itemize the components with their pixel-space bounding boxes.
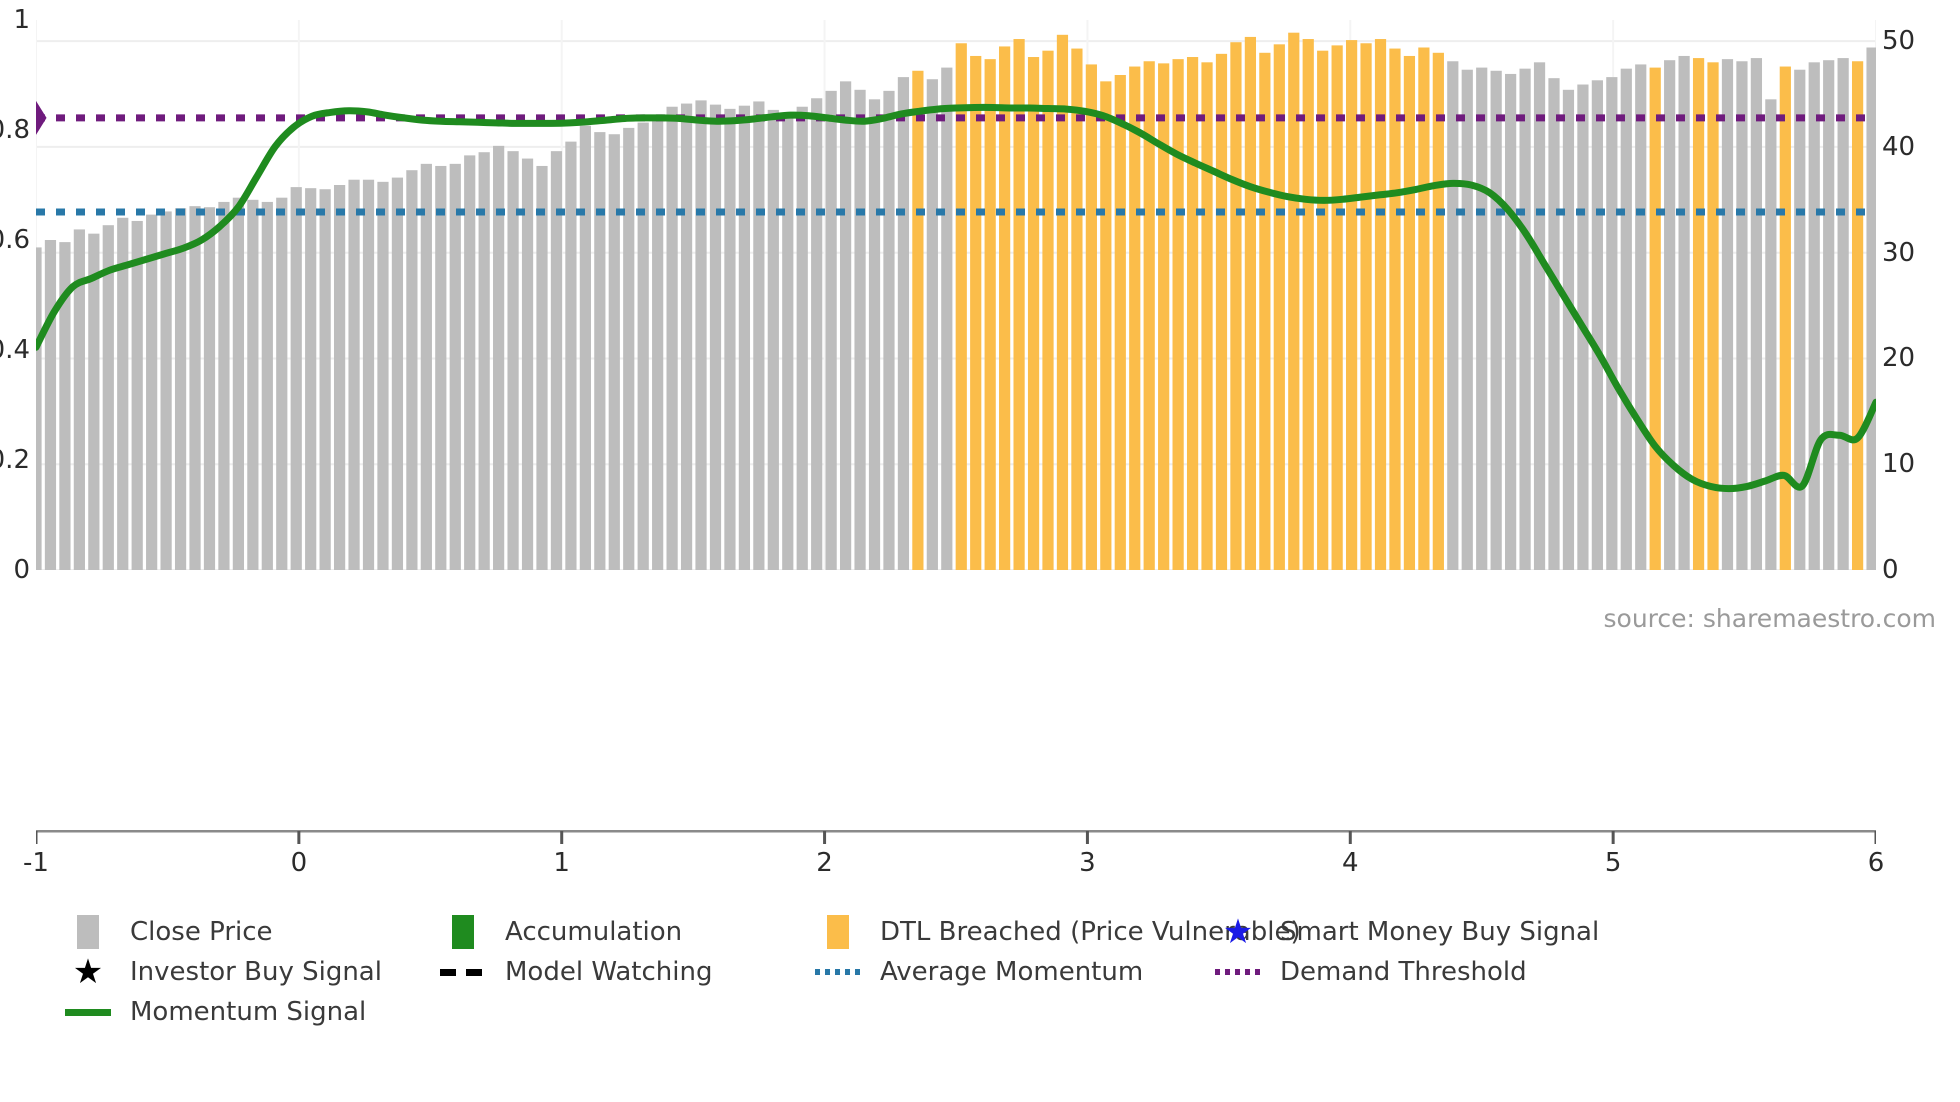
legend-item-label: Accumulation <box>505 917 682 947</box>
legend-dashed-swatch <box>435 969 491 976</box>
bar-close-price <box>1592 80 1603 570</box>
bar-close-price <box>334 185 345 570</box>
y-axis-left-labels: 00.20.40.60.81 <box>0 20 30 570</box>
x-axis-labels: -10123456 <box>36 848 1876 888</box>
y-axis-left-tick: 1 <box>13 5 30 35</box>
bar-dtl-breached <box>1115 75 1126 570</box>
bar-close-price <box>450 164 461 570</box>
legend-square-swatch <box>60 915 116 949</box>
y-axis-right-tick: 40 <box>1882 132 1915 162</box>
legend-investor-buy[interactable]: ★Investor Buy Signal <box>60 952 435 992</box>
bar-close-price <box>1491 71 1502 570</box>
bar-dtl-breached <box>1129 67 1140 570</box>
legend-dtl-breached[interactable]: DTL Breached (Price Vulnerable) <box>810 912 1210 952</box>
x-axis-tick: 5 <box>1605 848 1622 878</box>
bar-close-price <box>233 198 244 570</box>
bar-dtl-breached <box>1274 44 1285 570</box>
legend-solid-line-icon <box>65 1009 111 1016</box>
bar-close-price <box>421 164 432 570</box>
bar-close-price <box>175 208 186 570</box>
x-axis-tick: 2 <box>816 848 833 878</box>
y-axis-right-tick: 10 <box>1882 449 1915 479</box>
bar-close-price <box>927 79 938 570</box>
bar-close-price <box>392 178 403 570</box>
bar-close-price <box>291 187 302 570</box>
bar-close-price <box>1664 60 1675 570</box>
bar-close-price <box>132 221 143 570</box>
bar-dtl-breached <box>1042 51 1053 570</box>
bar-close-price <box>854 90 865 570</box>
x-axis-tick: 1 <box>553 848 570 878</box>
y-axis-left-tick: 0.4 <box>0 335 30 365</box>
bar-close-price <box>146 215 157 570</box>
y-axis-left-tick: 0.2 <box>0 445 30 475</box>
bar-close-price <box>739 106 750 570</box>
bar-dtl-breached <box>1433 53 1444 570</box>
bar-dtl-breached <box>1332 45 1343 570</box>
bar-close-price <box>522 159 533 570</box>
legend-item-label: Smart Money Buy Signal <box>1280 917 1599 947</box>
bar-close-price <box>623 128 634 570</box>
x-axis-tick: -1 <box>23 848 49 878</box>
bar-dtl-breached <box>1028 57 1039 570</box>
bar-dtl-breached <box>1418 48 1429 571</box>
bar-close-price <box>1462 70 1473 570</box>
y-axis-left-tick: 0.6 <box>0 225 30 255</box>
bar-dtl-breached <box>1158 63 1169 570</box>
legend-model-watching[interactable]: Model Watching <box>435 952 810 992</box>
bar-close-price <box>609 134 620 570</box>
chart-canvas <box>36 20 1876 570</box>
bar-dtl-breached <box>1346 40 1357 570</box>
bar-close-price <box>305 188 316 570</box>
bar-close-price <box>36 247 42 570</box>
legend-accumulation[interactable]: Accumulation <box>435 912 810 952</box>
legend-line-swatch <box>60 1009 116 1016</box>
bar-dtl-breached <box>1317 51 1328 570</box>
bar-close-price <box>1765 99 1776 570</box>
legend-smart-money-buy[interactable]: ★Smart Money Buy Signal <box>1210 912 1599 952</box>
legend-average-momentum[interactable]: Average Momentum <box>810 952 1210 992</box>
bar-dtl-breached <box>1201 62 1212 570</box>
y-axis-left-tick: 0.8 <box>0 115 30 145</box>
bar-close-price <box>103 225 114 570</box>
chart-legend: Close PriceAccumulationDTL Breached (Pri… <box>0 912 1960 1032</box>
bar-close-price <box>1534 62 1545 570</box>
bar-close-price <box>464 155 475 570</box>
legend-dotted-line-icon <box>815 969 861 975</box>
bar-dtl-breached <box>1216 54 1227 570</box>
legend-close-price[interactable]: Close Price <box>60 912 435 952</box>
bar-dtl-breached <box>1187 57 1198 570</box>
x-axis-spine <box>36 830 1876 848</box>
y-axis-right-tick: 30 <box>1882 238 1915 268</box>
y-axis-right-tick: 20 <box>1882 343 1915 373</box>
bar-close-price <box>782 115 793 570</box>
legend-dotted-line-icon <box>1215 969 1261 975</box>
legend-dotted-swatch <box>1210 969 1266 975</box>
bar-dtl-breached <box>1173 59 1184 570</box>
bar-close-price <box>1736 61 1747 570</box>
bar-close-price <box>88 234 99 570</box>
legend-square-icon <box>827 915 849 949</box>
bar-close-price <box>797 107 808 570</box>
legend-row: Close PriceAccumulationDTL Breached (Pri… <box>0 912 1960 952</box>
bar-dtl-breached <box>1650 68 1661 570</box>
bar-close-price <box>1505 74 1516 570</box>
bar-close-price <box>1838 58 1849 570</box>
bar-close-price <box>276 198 287 570</box>
legend-item-label: Demand Threshold <box>1280 957 1527 987</box>
bar-dtl-breached <box>985 59 996 570</box>
bar-dtl-breached <box>1360 43 1371 570</box>
bar-close-price <box>594 132 605 570</box>
bar-close-price <box>320 189 331 570</box>
legend-demand-threshold[interactable]: Demand Threshold <box>1210 952 1527 992</box>
x-axis-tick: 4 <box>1342 848 1359 878</box>
bar-dtl-breached <box>1288 33 1299 570</box>
bar-close-price <box>1548 78 1559 570</box>
bar-dtl-breached <box>1852 61 1863 570</box>
y-axis-right-tick: 50 <box>1882 26 1915 56</box>
chart-root: 00.20.40.60.81 01020304050 -10123456 sou… <box>0 0 1960 1102</box>
bar-close-price <box>1679 56 1690 570</box>
bar-close-price <box>363 180 374 570</box>
legend-star-swatch: ★ <box>1210 915 1266 949</box>
bar-close-price <box>869 99 880 570</box>
bar-close-price <box>1794 70 1805 570</box>
bar-close-price <box>667 107 678 570</box>
signal-markers <box>36 101 47 135</box>
x-axis-tick: 6 <box>1868 848 1885 878</box>
bar-close-price <box>218 202 229 570</box>
source-note: source: sharemaestro.com <box>1604 604 1937 633</box>
bar-close-price <box>377 182 388 570</box>
bar-close-price <box>811 98 822 570</box>
bar-close-price <box>724 109 735 570</box>
bar-dtl-breached <box>1245 37 1256 570</box>
bar-close-price <box>1866 48 1876 571</box>
legend-star-swatch: ★ <box>60 955 116 989</box>
bar-close-price <box>826 91 837 570</box>
bar-close-price <box>348 180 359 570</box>
bar-close-price <box>695 100 706 570</box>
legend-item-label: Close Price <box>130 917 273 947</box>
bar-dtl-breached <box>1086 64 1097 570</box>
legend-item-label: Momentum Signal <box>130 997 366 1027</box>
bar-close-price <box>580 126 591 570</box>
legend-item-label: Average Momentum <box>880 957 1143 987</box>
bar-close-price <box>565 142 576 570</box>
bar-close-price <box>247 200 258 570</box>
bar-close-price <box>1621 69 1632 570</box>
star-icon: ★ <box>1223 915 1253 949</box>
bar-dtl-breached <box>1693 58 1704 570</box>
plot-area <box>36 20 1876 570</box>
legend-square-icon <box>77 915 99 949</box>
legend-item-label: Model Watching <box>505 957 712 987</box>
bar-close-price <box>1606 77 1617 570</box>
bar-dtl-breached <box>1780 67 1791 570</box>
bar-dtl-breached <box>956 43 967 570</box>
bar-close-price <box>898 77 909 570</box>
bar-close-price <box>1447 61 1458 570</box>
bar-close-price <box>681 104 692 570</box>
bar-close-price <box>1563 90 1574 570</box>
legend-square-swatch <box>435 915 491 949</box>
bar-close-price <box>753 101 764 570</box>
bar-close-price <box>883 91 894 570</box>
bar-close-price <box>406 170 417 570</box>
legend-item-label: Investor Buy Signal <box>130 957 382 987</box>
bar-close-price <box>638 123 649 570</box>
bar-close-price <box>941 68 952 570</box>
x-axis-tick: 3 <box>1079 848 1096 878</box>
bar-close-price <box>1722 59 1733 570</box>
demand-threshold-start-marker <box>36 101 47 135</box>
y-axis-right-tick: 0 <box>1882 555 1899 585</box>
bar-close-price <box>1519 69 1530 570</box>
bar-close-price <box>536 166 547 570</box>
x-axis-tick: 0 <box>291 848 308 878</box>
legend-square-icon <box>452 915 474 949</box>
bar-dtl-breached <box>912 71 923 570</box>
y-axis-left-tick: 0 <box>13 555 30 585</box>
bar-close-price <box>161 211 172 570</box>
bar-dtl-breached <box>970 56 981 570</box>
bar-dtl-breached <box>1404 56 1415 570</box>
bar-close-price <box>204 207 215 570</box>
bar-dtl-breached <box>1100 81 1111 570</box>
legend-row: ★Investor Buy SignalModel WatchingAverag… <box>0 952 1960 992</box>
bar-close-price <box>45 240 56 570</box>
bar-close-price <box>435 166 446 570</box>
bar-close-price <box>1823 60 1834 570</box>
bar-close-price <box>840 81 851 570</box>
bar-close-price <box>710 105 721 570</box>
bar-dtl-breached <box>999 46 1010 570</box>
y-axis-right-labels: 01020304050 <box>1882 20 1952 570</box>
bar-close-price <box>768 110 779 570</box>
bar-close-price <box>652 116 663 570</box>
bar-close-price <box>262 202 273 570</box>
legend-row: Momentum Signal <box>0 992 1960 1032</box>
bar-close-price <box>1809 62 1820 570</box>
star-icon: ★ <box>73 955 103 989</box>
bar-dtl-breached <box>1259 53 1270 570</box>
legend-momentum-signal[interactable]: Momentum Signal <box>60 992 366 1032</box>
bar-close-price <box>1476 68 1487 570</box>
legend-square-swatch <box>810 915 866 949</box>
bar-dtl-breached <box>1707 62 1718 570</box>
bar-close-price <box>1635 64 1646 570</box>
bar-close-price <box>189 206 200 570</box>
bar-dtl-breached <box>1389 49 1400 570</box>
bar-dtl-breached <box>1071 49 1082 570</box>
bar-close-price <box>1751 58 1762 570</box>
legend-dotted-swatch <box>810 969 866 975</box>
legend-dashed-line-icon <box>440 969 486 976</box>
